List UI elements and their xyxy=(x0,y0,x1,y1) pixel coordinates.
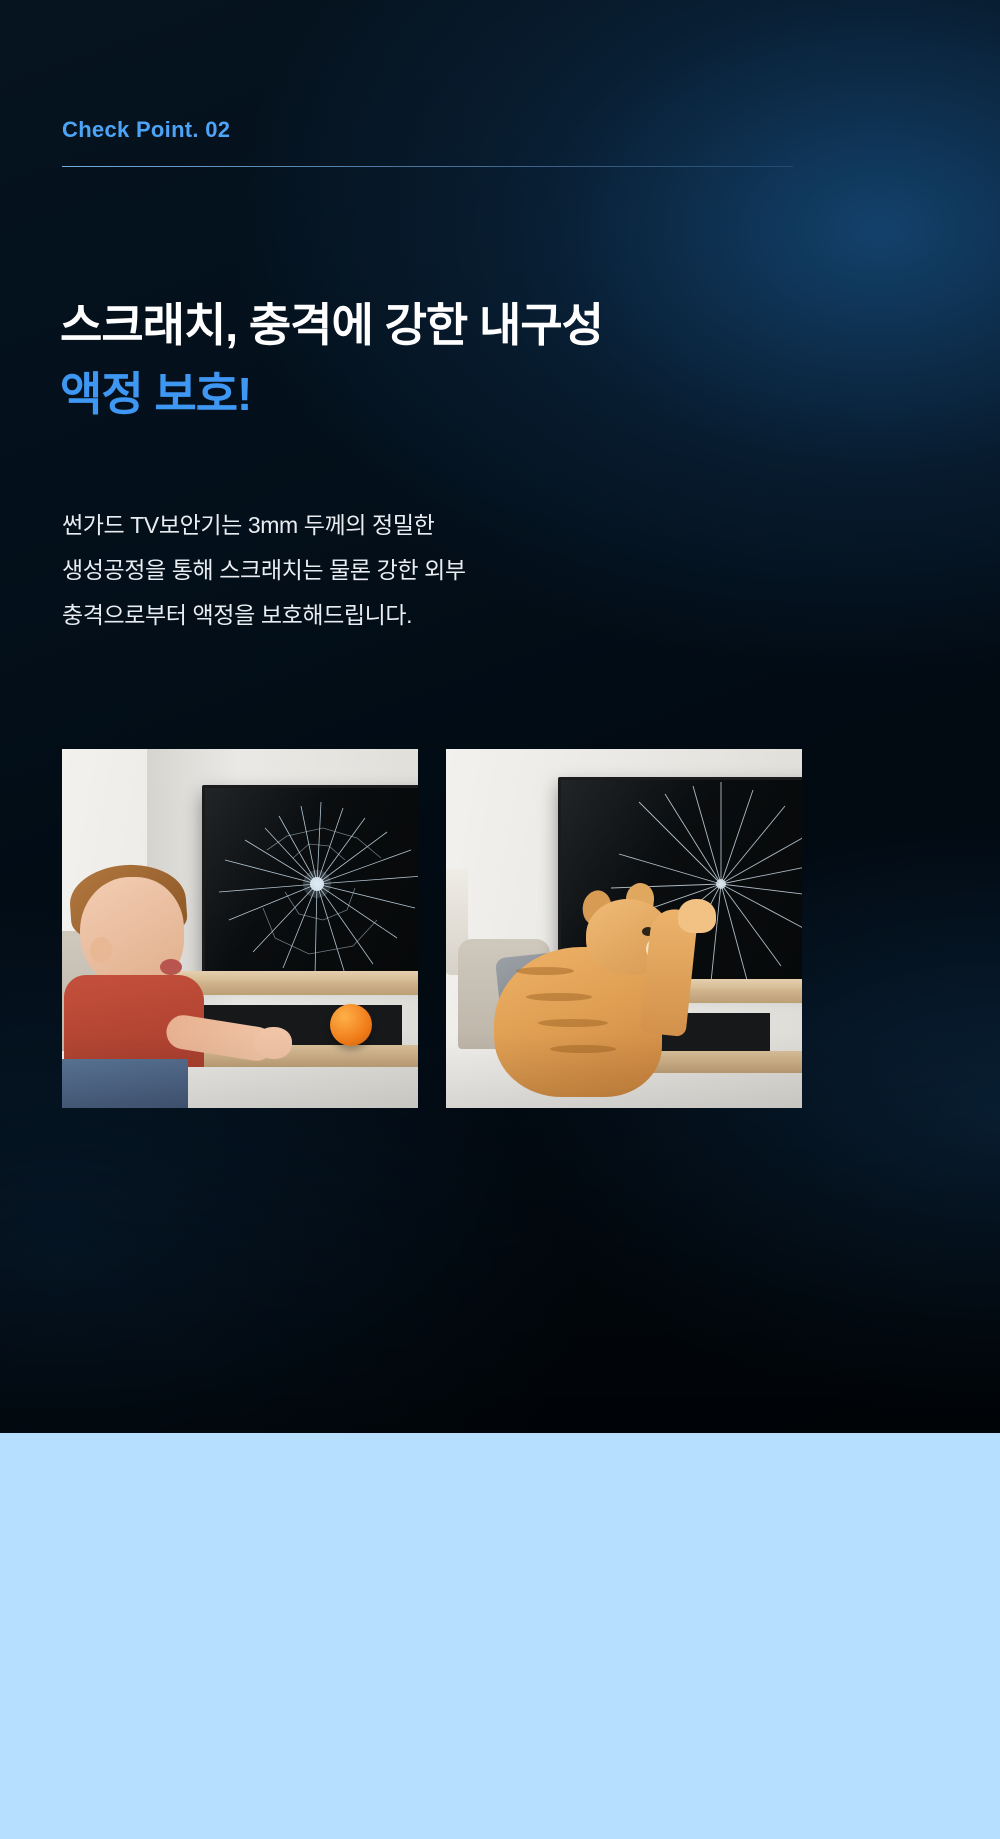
child-hand xyxy=(254,1027,292,1059)
body-copy: 썬가드 TV보안기는 3mm 두께의 정밀한 생성공정을 통해 스크래치는 물론… xyxy=(62,503,466,638)
child-jeans xyxy=(62,1059,188,1108)
body-copy-line-2: 생성공정을 통해 스크래치는 물론 강한 외부 xyxy=(62,548,466,593)
cat-stripe xyxy=(550,1045,616,1053)
cat-stripe xyxy=(516,967,574,975)
headline-line-1: 스크래치, 충격에 강한 내구성 xyxy=(60,296,603,355)
photo-cat-scratching-tv xyxy=(446,749,802,1108)
photo-row xyxy=(62,749,938,1108)
photo-child-broken-tv xyxy=(62,749,418,1108)
body-copy-line-3: 충격으로부터 액정을 보호해드립니다. xyxy=(62,593,466,638)
child-mouth xyxy=(160,959,182,975)
promo-page: Check Point. 02 스크래치, 충격에 강한 내구성 액정 보호! … xyxy=(0,0,1000,1839)
body-copy-line-1: 썬가드 TV보안기는 3mm 두께의 정밀한 xyxy=(62,503,466,548)
eyebrow-divider xyxy=(62,166,793,167)
cat-paw xyxy=(678,899,716,933)
checkpoint-eyebrow: Check Point. 02 xyxy=(62,117,230,143)
dark-feature-section: Check Point. 02 스크래치, 충격에 강한 내구성 액정 보호! … xyxy=(0,0,1000,1433)
headline-block: 스크래치, 충격에 강한 내구성 액정 보호! xyxy=(60,296,603,424)
tv-screen-sheen xyxy=(205,788,418,972)
headline-line-2: 액정 보호! xyxy=(60,365,603,424)
tv-console-top xyxy=(172,971,418,981)
child-ear xyxy=(90,937,112,963)
orange-ball xyxy=(330,1004,372,1046)
cat-stripe xyxy=(538,1019,608,1027)
television-cracked xyxy=(202,785,418,975)
benefit-callout-section: 호기심 많은 우리의 아이들이나 반려묘 등에 의하여 TV에 스크래치가 생기… xyxy=(0,1433,1000,1839)
cat-stripe xyxy=(526,993,592,1001)
